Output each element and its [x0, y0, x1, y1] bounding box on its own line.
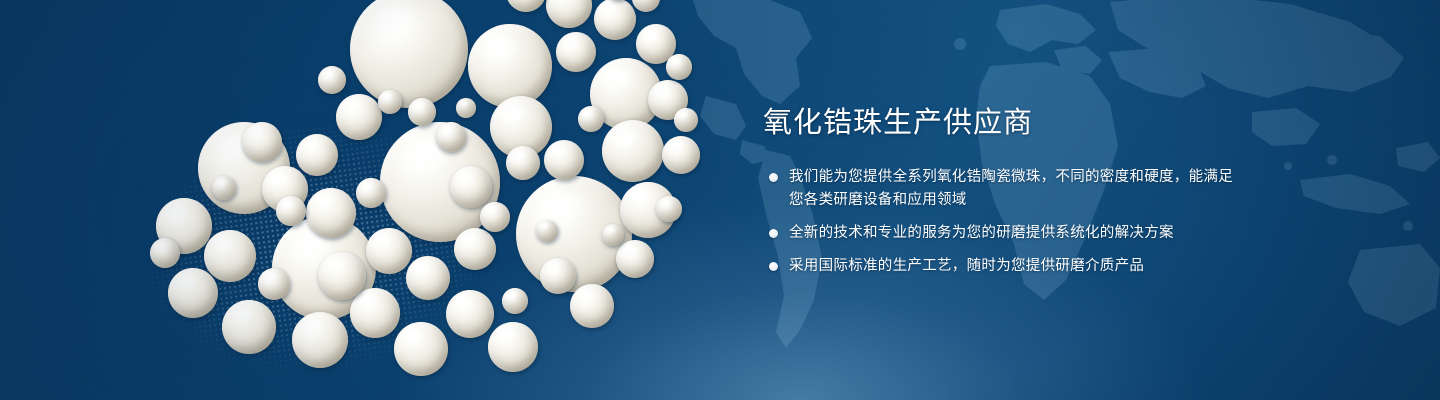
banner-headline: 氧化锆珠生产供应商 [763, 104, 1233, 142]
bullet-text: 我们能为您提供全系列氧化锆陶瓷微珠，不同的密度和硬度，能满足您各类研磨设备和应用… [789, 166, 1233, 212]
hero-banner: 氧化锆珠生产供应商 我们能为您提供全系列氧化锆陶瓷微珠，不同的密度和硬度，能满足… [0, 0, 1440, 400]
banner-bullet-list: 我们能为您提供全系列氧化锆陶瓷微珠，不同的密度和硬度，能满足您各类研磨设备和应用… [763, 166, 1233, 278]
banner-bullet-item: 采用国际标准的生产工艺，随时为您提供研磨介质产品 [763, 255, 1233, 278]
banner-content: 氧化锆珠生产供应商 我们能为您提供全系列氧化锆陶瓷微珠，不同的密度和硬度，能满足… [763, 104, 1233, 278]
bullet-text: 全新的技术和专业的服务为您的研磨提供系统化的解决方案 [789, 222, 1233, 245]
bullet-dot-icon [769, 262, 778, 271]
banner-bullet-item: 全新的技术和专业的服务为您的研磨提供系统化的解决方案 [763, 222, 1233, 245]
banner-bullet-item: 我们能为您提供全系列氧化锆陶瓷微珠，不同的密度和硬度，能满足您各类研磨设备和应用… [763, 166, 1233, 212]
bullet-dot-icon [769, 229, 778, 238]
bullet-dot-icon [769, 173, 778, 182]
bullet-text: 采用国际标准的生产工艺，随时为您提供研磨介质产品 [789, 255, 1233, 278]
